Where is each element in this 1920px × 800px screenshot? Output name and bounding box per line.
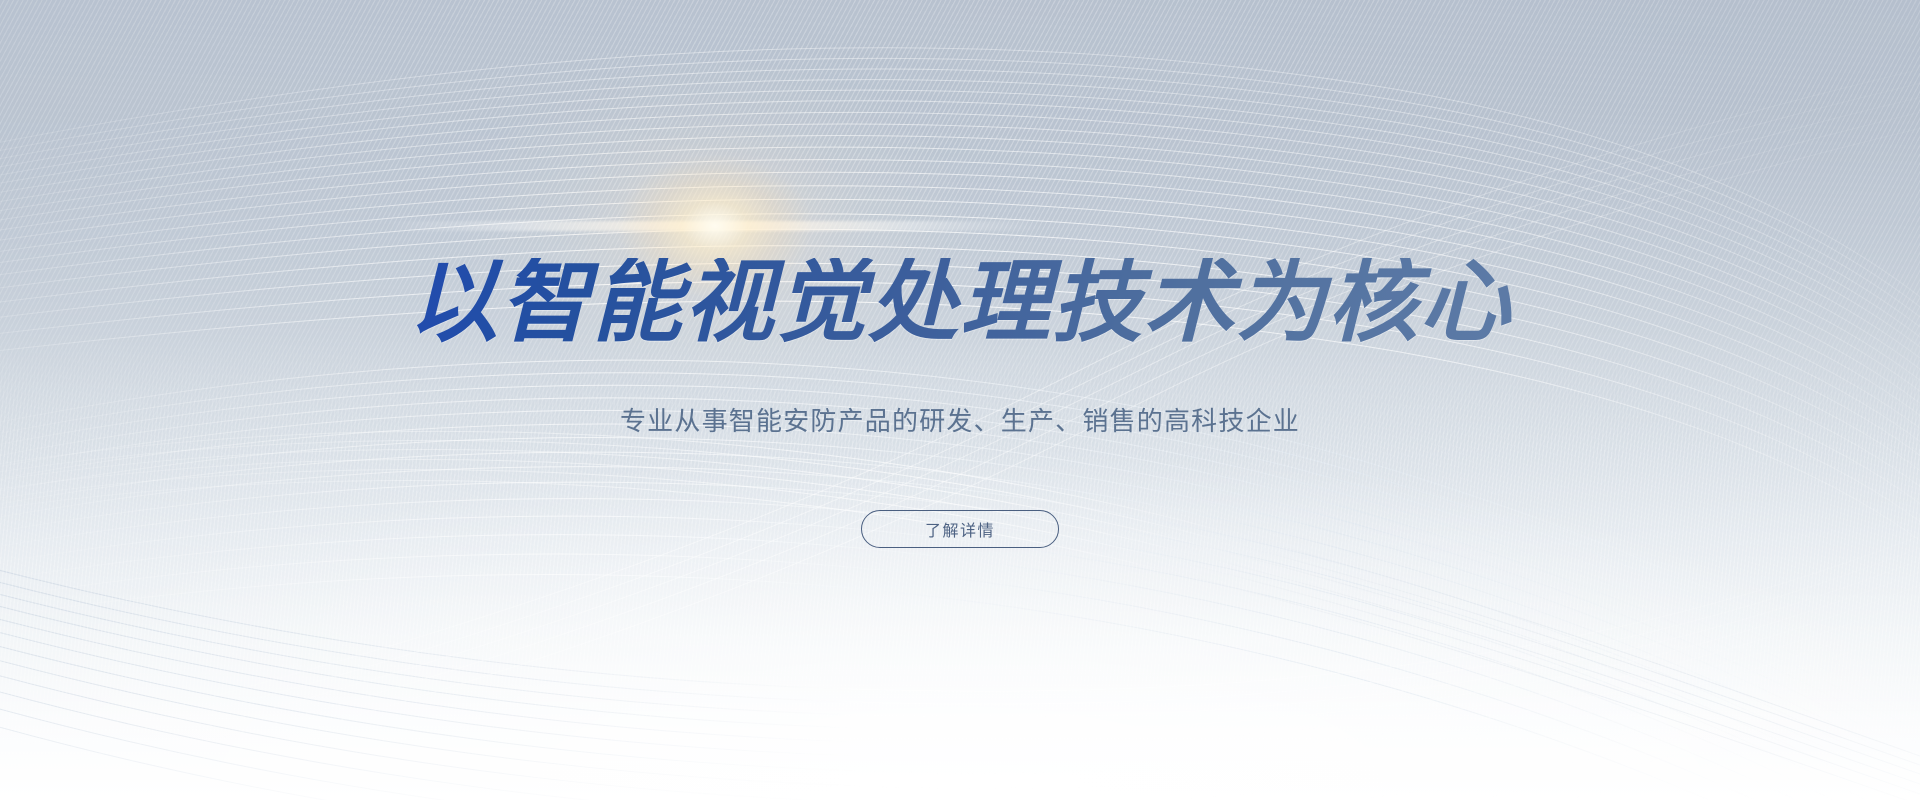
cta-container: 了解详情 — [0, 510, 1920, 548]
hero-content: 以智能视觉处理技术为核心 专业从事智能安防产品的研发、生产、销售的高科技企业 了… — [0, 0, 1920, 800]
hero-banner: 以智能视觉处理技术为核心 专业从事智能安防产品的研发、生产、销售的高科技企业 了… — [0, 0, 1920, 800]
page-title: 以智能视觉处理技术为核心 — [0, 258, 1920, 348]
hero-subtitle: 专业从事智能安防产品的研发、生产、销售的高科技企业 — [0, 404, 1920, 439]
learn-more-button[interactable]: 了解详情 — [861, 510, 1059, 548]
